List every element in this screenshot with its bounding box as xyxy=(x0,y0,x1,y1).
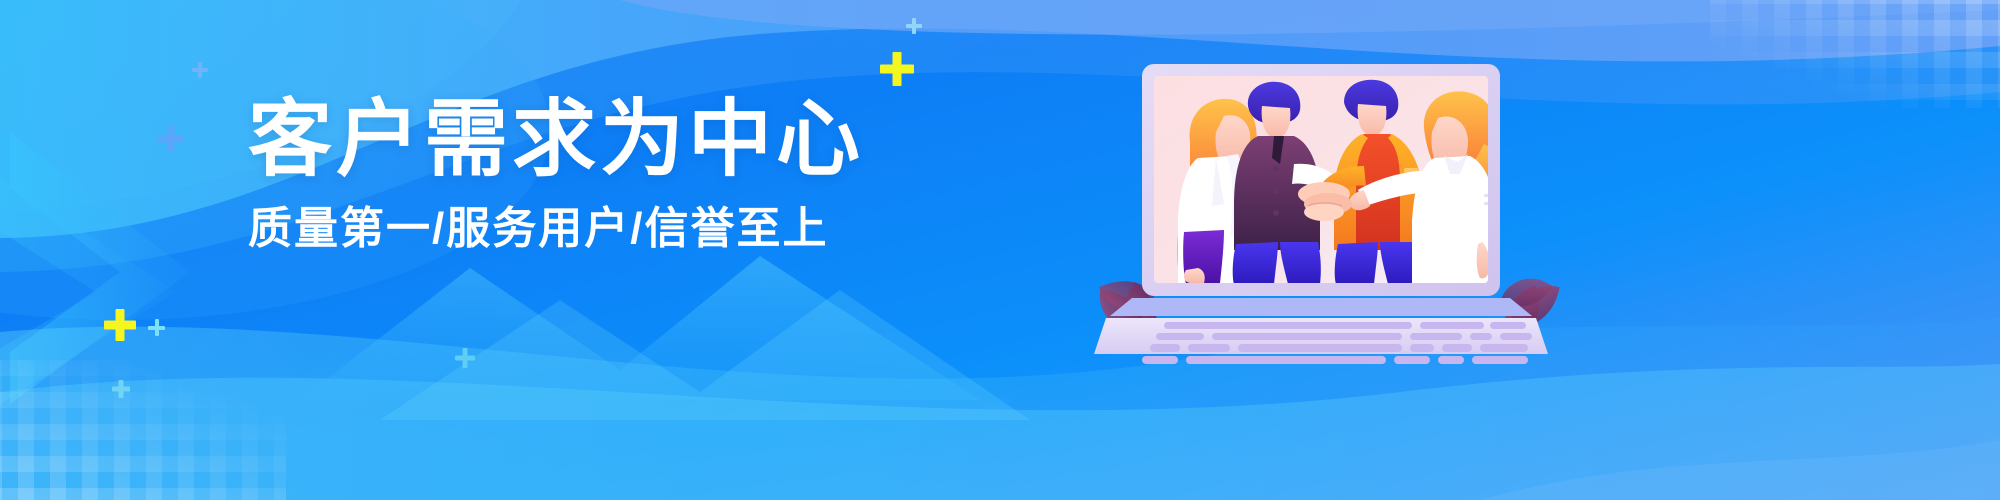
plus-yellow-bottom-left-icon xyxy=(104,309,136,341)
plus-cyan-small-top-icon xyxy=(906,18,922,34)
page-title: 客户需求为中心 xyxy=(248,96,948,183)
plus-cyan-bottom-left-icon xyxy=(148,319,165,336)
plus-cyan-mid-icon xyxy=(455,348,475,368)
laptop-illustration xyxy=(1128,54,1548,364)
page-subtitle: 质量第一/服务用户/信誉至上 xyxy=(248,205,948,253)
plus-yellow-large-icon xyxy=(880,52,914,86)
plus-cyan-faint-upper-icon xyxy=(112,380,130,398)
promo-banner: 客户需求为中心 质量第一/服务用户/信誉至上 xyxy=(0,0,2000,500)
team-photo-scene xyxy=(1177,80,1522,284)
headline-block: 客户需求为中心 质量第一/服务用户/信誉至上 xyxy=(248,96,948,254)
plus-white-faint-topleft-icon xyxy=(192,62,208,78)
plus-white-faint-left-icon xyxy=(158,126,183,151)
